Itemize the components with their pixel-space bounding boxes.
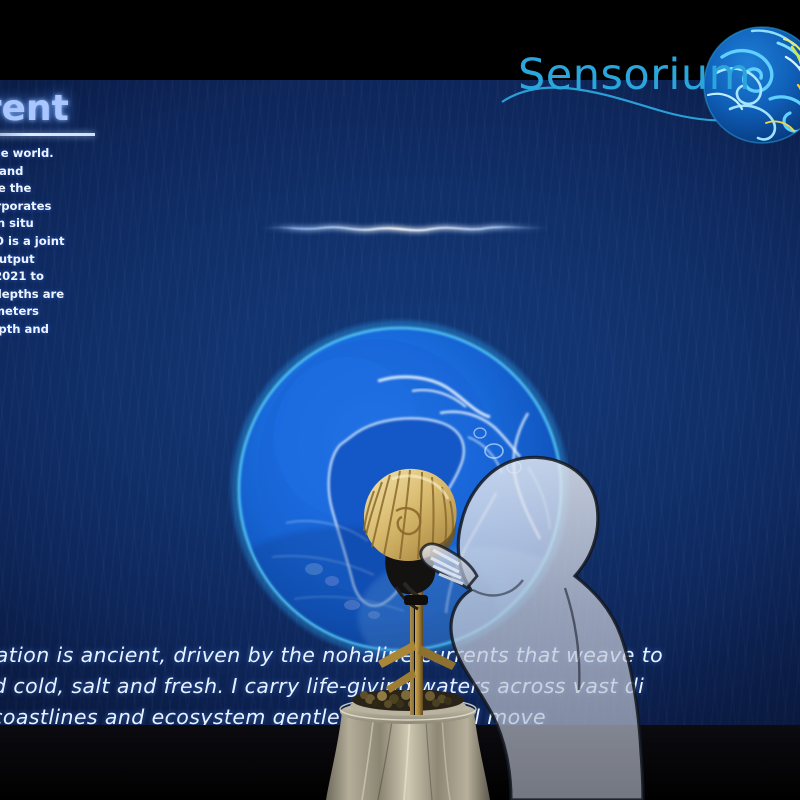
logo-wordmark: Sensorium [518, 50, 751, 100]
body-line: s of blue) [0, 339, 154, 357]
body-line: accurate. ECCO is a joint [0, 233, 154, 251]
body-line: sed to visualize the [0, 180, 154, 198]
slide-body-text: ents around the world. he Circulation an… [0, 145, 154, 356]
body-line: ents around the world. [0, 145, 154, 163]
page-title: Current [0, 88, 69, 129]
person-silhouette-listening-to-shell [415, 440, 675, 800]
sensorium-logo[interactable]: Sensorium [500, 26, 800, 176]
body-line: ers the years 2021 to [0, 268, 154, 286]
exhibit-screenshot: Current ents around the world. he Circul… [0, 0, 800, 800]
title-underline-rule [0, 133, 95, 136]
body-line: T. The model output [0, 251, 154, 269]
body-line: 600 meters depth and [0, 321, 154, 339]
body-line: he Circulation and [0, 163, 154, 181]
body-line: urrents at all depths are [0, 286, 154, 304]
body-line: rs, and other in situ [0, 215, 154, 233]
body-line: e (above 600 meters [0, 303, 154, 321]
glowing-current-streak [255, 208, 555, 252]
body-line: on model incorporates [0, 198, 154, 216]
